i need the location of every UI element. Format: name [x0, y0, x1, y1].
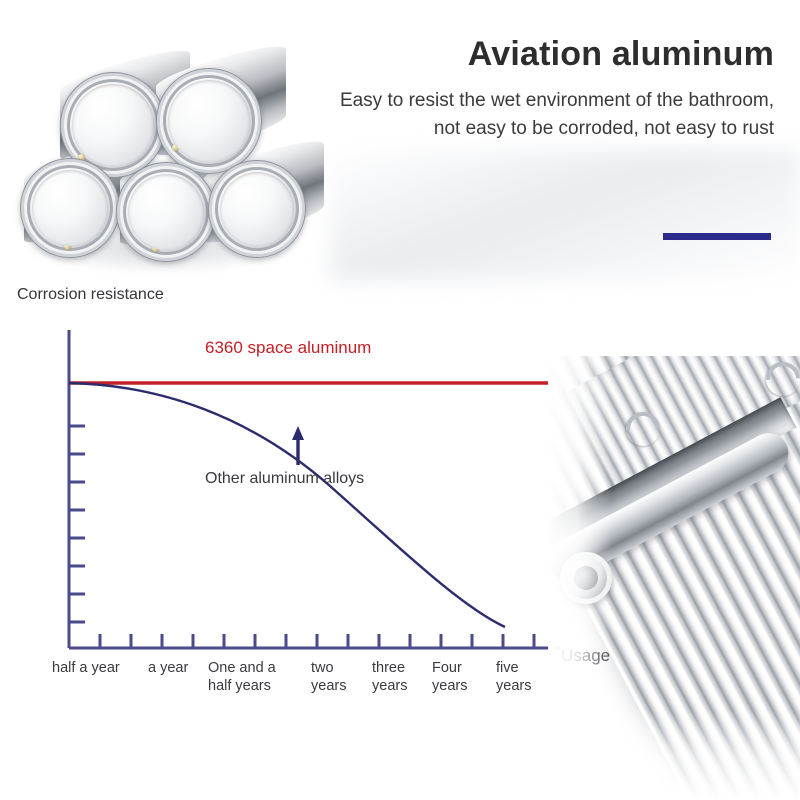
page-subtitle: Easy to resist the wet environment of th…	[314, 87, 774, 142]
accent-underline-bar	[663, 233, 771, 240]
bolt-icon	[226, 203, 233, 210]
series-label-6360-space-aluminum: 6360 space aluminum	[205, 338, 371, 358]
aluminum-profile-photo	[548, 356, 800, 800]
bolt-icon	[172, 144, 179, 151]
bolt-icon	[60, 173, 67, 180]
x-tick-label: Four years	[432, 660, 467, 695]
cylinder-end-cap	[208, 160, 306, 258]
bolt-icon	[178, 185, 185, 192]
x-tick-label: three years	[372, 660, 407, 695]
x-tick-label: half a year	[52, 660, 120, 678]
x-tick-label: five years	[496, 660, 531, 695]
callout-arrow-up-icon	[292, 426, 304, 465]
series-curve-other-aluminum-alloys	[69, 383, 505, 627]
x-tick-label: One and a half years	[208, 660, 276, 695]
headline-block: Aviation aluminum Easy to resist the wet…	[314, 36, 774, 142]
y-axis-ticks	[69, 426, 85, 622]
infographic-page: Aviation aluminum Easy to resist the wet…	[0, 0, 800, 800]
bolt-icon	[121, 140, 128, 147]
series-label-other-aluminum-alloys: Other aluminum alloys	[205, 470, 364, 488]
hero-gradient-wash	[330, 150, 800, 280]
bolt-icon	[64, 243, 71, 250]
bolt-icon	[152, 245, 159, 252]
cylinder-end-cap	[156, 68, 262, 174]
y-axis-title: Corrosion resistance	[17, 286, 164, 304]
page-title: Aviation aluminum	[314, 36, 774, 73]
x-axis-ticks	[100, 634, 534, 648]
cylinder-end-cap	[20, 158, 120, 258]
bolt-icon	[280, 224, 287, 231]
cylinder-end-cap	[116, 162, 216, 262]
x-tick-label: a year	[148, 660, 188, 678]
x-tick-label: two years	[311, 660, 346, 695]
photo-edge-fade	[548, 710, 800, 800]
bolt-icon	[236, 111, 243, 118]
aluminum-cylinders-photo	[8, 24, 318, 274]
